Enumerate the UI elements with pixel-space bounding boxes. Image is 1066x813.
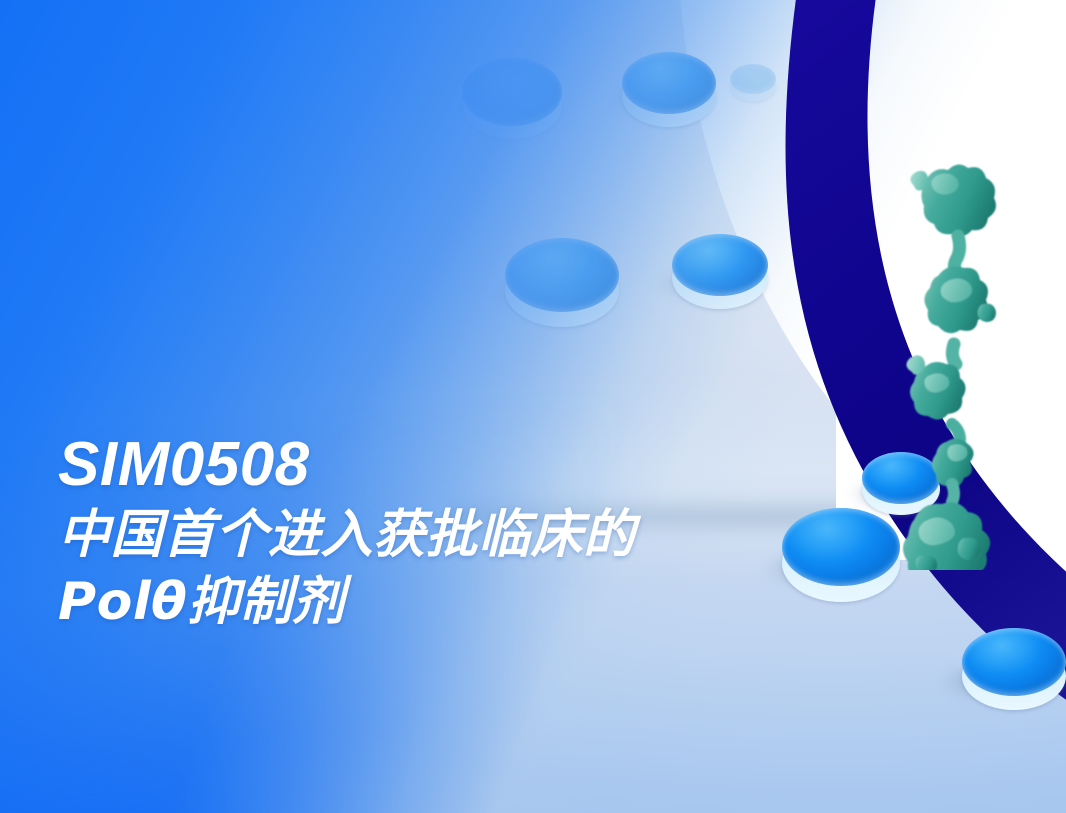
product-code-title: SIM0508 xyxy=(58,433,636,496)
polymerase-theta-protein-ribbon xyxy=(880,150,1066,570)
pill-top-face xyxy=(962,628,1066,696)
headline-line-2: Polθ抑制剂 xyxy=(58,569,636,636)
headline-line-1: 中国首个进入获批临床的 xyxy=(58,502,636,569)
headline-block: SIM0508 中国首个进入获批临床的 Polθ抑制剂 xyxy=(58,433,636,635)
poster-root: SIM0508 中国首个进入获批临床的 Polθ抑制剂 xyxy=(0,0,1066,813)
pill-bottom-right xyxy=(962,628,1066,696)
protein-blobs xyxy=(903,164,996,570)
